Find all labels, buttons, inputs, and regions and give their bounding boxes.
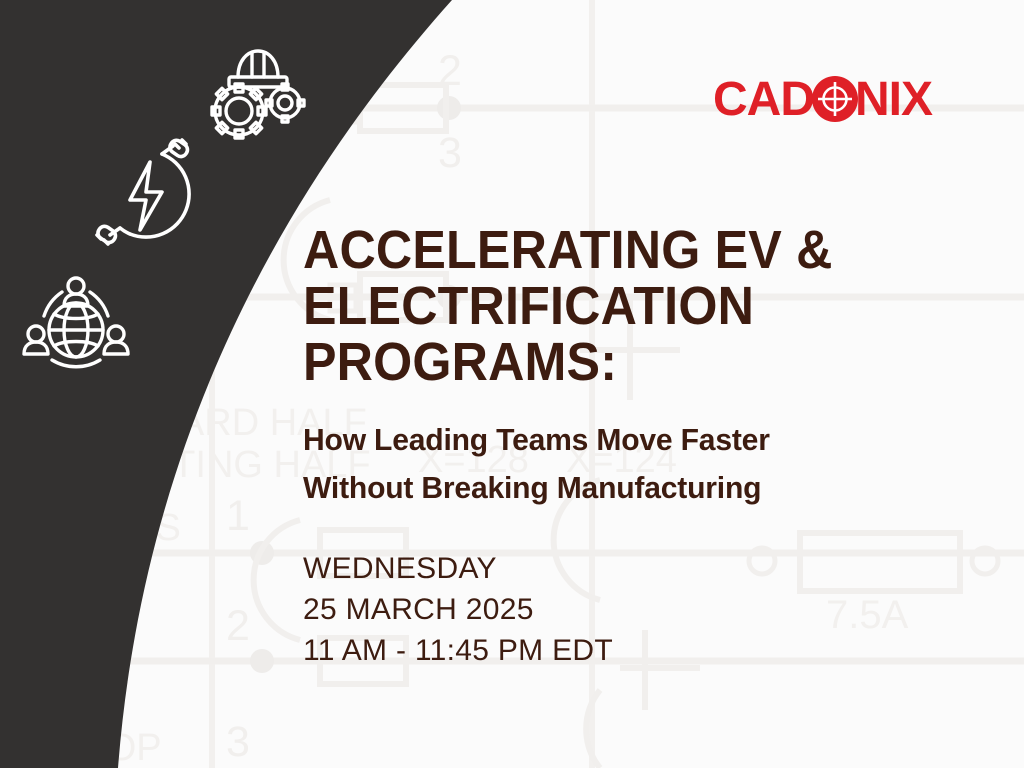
title-line-3: PROGRAMS: xyxy=(303,332,617,392)
title-line-1: ACCELERATING EV & xyxy=(303,220,833,280)
title-line-2: ELECTRIFICATION xyxy=(303,276,754,336)
page-subtitle: How Leading Teams Move Faster Without Br… xyxy=(303,416,963,512)
event-day: WEDNESDAY xyxy=(303,548,983,589)
logo-text-left: CAD xyxy=(713,74,814,126)
svg-text:1: 1 xyxy=(226,492,250,540)
webinar-promo-slide: 2 3 4 1 2 3 BOARD HALF MATING HALF US D … xyxy=(0,0,1024,768)
ev-charging-bolt-icon xyxy=(90,140,202,248)
subtitle-line-1: How Leading Teams Move Faster xyxy=(303,416,963,464)
event-datetime: WEDNESDAY 25 MARCH 2025 11 AM - 11:45 PM… xyxy=(303,548,983,671)
svg-text:2: 2 xyxy=(226,602,250,650)
svg-text:3: 3 xyxy=(226,718,250,766)
svg-text:2: 2 xyxy=(438,47,462,95)
subtitle-line-2: Without Breaking Manufacturing xyxy=(303,464,963,512)
logo-text-right: NIX xyxy=(855,74,933,126)
global-team-icon xyxy=(20,272,132,376)
event-time: 11 AM - 11:45 PM EDT xyxy=(303,630,983,671)
svg-text:US: US xyxy=(128,507,181,549)
hardhat-gears-icon xyxy=(202,40,310,140)
svg-text:4: 4 xyxy=(222,270,246,318)
event-date: 25 MARCH 2025 xyxy=(303,589,983,630)
page-title: ACCELERATING EV & ELECTRIFICATION PROGRA… xyxy=(303,222,935,390)
cadonix-logo[interactable]: CAD NIX xyxy=(713,74,947,126)
svg-text:D: D xyxy=(60,589,87,631)
content-block: ACCELERATING EV & ELECTRIFICATION PROGRA… xyxy=(303,222,983,671)
svg-text:LOOP: LOOP xyxy=(56,727,162,768)
svg-text:3: 3 xyxy=(438,129,462,177)
